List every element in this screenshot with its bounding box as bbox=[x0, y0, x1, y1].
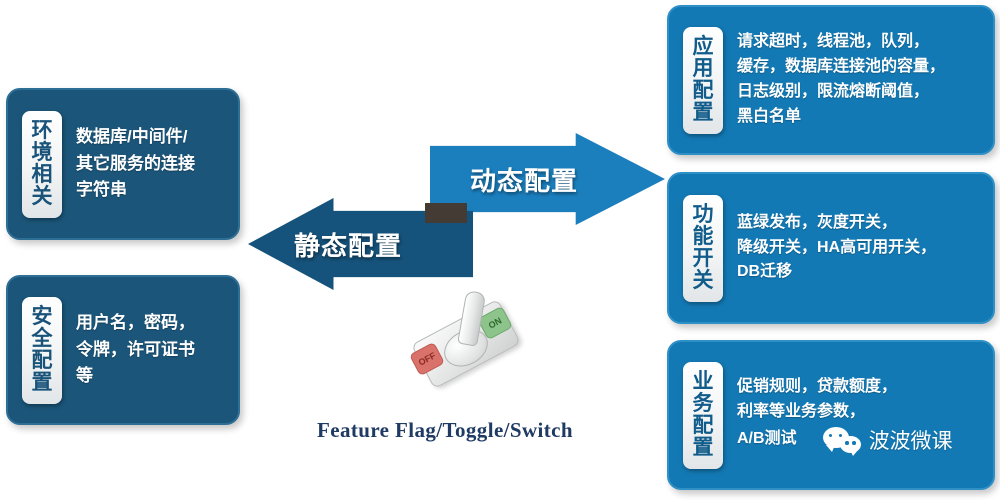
badge-char: 相 bbox=[32, 164, 53, 186]
card-line: 其它服务的连接 bbox=[76, 151, 228, 177]
card-body: 数据库/中间件/ 其它服务的连接 字符串 bbox=[76, 124, 238, 203]
card-environment-config: 环 境 相 关 数据库/中间件/ 其它服务的连接 字符串 bbox=[6, 88, 240, 240]
toggle-switch-icon: OFF ON bbox=[405, 285, 525, 405]
badge-char: 关 bbox=[32, 186, 53, 208]
arrow-junction-block bbox=[425, 203, 467, 223]
badge-char: 关 bbox=[693, 270, 714, 292]
badge-char: 配 bbox=[32, 350, 53, 372]
badge-char: 境 bbox=[32, 142, 53, 164]
badge-char: 置 bbox=[693, 437, 714, 459]
card-line: 日志级别，限流熔断阈值， bbox=[737, 80, 983, 105]
card-line-with-watermark: A/B测试 波波微课 bbox=[737, 425, 983, 455]
card-badge-label: 环 境 相 关 bbox=[22, 111, 62, 218]
card-line: 缓存，数据库连接池的容量， bbox=[737, 55, 983, 80]
card-line: 字符串 bbox=[76, 177, 228, 203]
card-line: 令牌，许可证书 bbox=[76, 337, 228, 363]
card-body: 蓝绿发布，灰度开关， 降级开关，HA高可用开关， DB迁移 bbox=[737, 211, 993, 285]
badge-char: 务 bbox=[693, 393, 714, 415]
diagram-caption: Feature Flag/Toggle/Switch bbox=[300, 418, 590, 443]
badge-char: 全 bbox=[32, 328, 53, 350]
card-badge-label: 业 务 配 置 bbox=[683, 362, 723, 469]
card-badge-label: 应 用 配 置 bbox=[683, 27, 723, 134]
card-badge-label: 安 全 配 置 bbox=[22, 297, 62, 404]
card-badge-label: 功 能 开 关 bbox=[683, 195, 723, 302]
badge-char: 配 bbox=[693, 415, 714, 437]
diagram-canvas: 环 境 相 关 数据库/中间件/ 其它服务的连接 字符串 安 全 配 置 用户名… bbox=[0, 0, 1000, 500]
wechat-icon bbox=[823, 427, 861, 453]
badge-char: 置 bbox=[693, 102, 714, 124]
badge-char: 能 bbox=[693, 226, 714, 248]
card-body: 促销规则，贷款额度， 利率等业务参数， A/B测试 波波微课 bbox=[737, 375, 993, 455]
badge-char: 应 bbox=[693, 36, 714, 58]
badge-char: 业 bbox=[693, 371, 714, 393]
card-line: 数据库/中间件/ bbox=[76, 124, 228, 150]
card-line: A/B测试 bbox=[737, 427, 797, 452]
badge-char: 置 bbox=[32, 372, 53, 394]
card-line: 黑白名单 bbox=[737, 105, 983, 130]
card-application-config: 应 用 配 置 请求超时，线程池，队列， 缓存，数据库连接池的容量， 日志级别，… bbox=[667, 5, 995, 155]
card-body: 用户名，密码， 令牌，许可证书 等 bbox=[76, 310, 238, 389]
arrow-dynamic-label: 动态配置 bbox=[470, 161, 578, 198]
card-business-config: 业 务 配 置 促销规则，贷款额度， 利率等业务参数， A/B测试 bbox=[667, 340, 995, 490]
card-line: 用户名，密码， bbox=[76, 310, 228, 336]
card-line: 促销规则，贷款额度， bbox=[737, 375, 983, 400]
card-security-config: 安 全 配 置 用户名，密码， 令牌，许可证书 等 bbox=[6, 275, 240, 425]
card-line: 请求超时，线程池，队列， bbox=[737, 30, 983, 55]
badge-char: 开 bbox=[693, 248, 714, 270]
wechat-watermark: 波波微课 bbox=[823, 425, 953, 455]
card-body: 请求超时，线程池，队列， 缓存，数据库连接池的容量， 日志级别，限流熔断阈值， … bbox=[737, 30, 993, 129]
watermark-text: 波波微课 bbox=[869, 425, 953, 455]
card-line: 利率等业务参数， bbox=[737, 400, 983, 425]
badge-char: 用 bbox=[693, 58, 714, 80]
badge-char: 安 bbox=[32, 306, 53, 328]
badge-char: 配 bbox=[693, 80, 714, 102]
arrow-static-label: 静态配置 bbox=[294, 226, 402, 263]
badge-char: 功 bbox=[693, 204, 714, 226]
badge-char: 环 bbox=[32, 120, 53, 142]
card-line: 降级开关，HA高可用开关， bbox=[737, 236, 983, 261]
card-line: 蓝绿发布，灰度开关， bbox=[737, 211, 983, 236]
card-feature-toggle: 功 能 开 关 蓝绿发布，灰度开关， 降级开关，HA高可用开关， DB迁移 bbox=[667, 172, 995, 324]
card-line: 等 bbox=[76, 363, 228, 389]
card-line: DB迁移 bbox=[737, 260, 983, 285]
